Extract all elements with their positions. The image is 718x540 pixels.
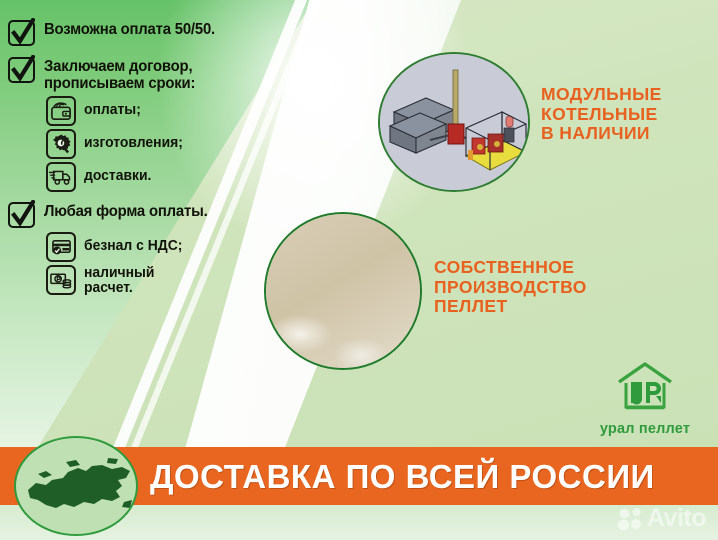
sub-item-label: изготовления; (84, 129, 183, 151)
heading-line: В НАЛИЧИИ (541, 124, 662, 144)
cash-ruble-icon (46, 265, 76, 295)
benefit-item-any-payment: Любая форма оплаты. (8, 200, 268, 228)
checkbox-checked-icon (8, 202, 35, 228)
benefit-label: Возможна оплата 50/50. (44, 18, 215, 38)
checkbox-checked-icon (8, 57, 35, 83)
logo-wordmark: урал пеллет (586, 421, 704, 437)
credit-card-check-icon (46, 232, 76, 262)
heading-line: КОТЕЛЬНЫЕ (541, 105, 662, 125)
pellets-photo-circle (264, 212, 422, 370)
sub-item-manufacturing-terms: изготовления; (46, 129, 268, 159)
heading-line: СОБСТВЕННОЕ (434, 258, 587, 278)
avito-wordmark: Avito (647, 506, 706, 531)
benefit-item-contract: Заключаем договор, прописываем сроки: (8, 55, 268, 92)
heading-line: МОДУЛЬНЫЕ (541, 85, 662, 105)
contract-sub-list: оплаты; изготовления; (46, 96, 268, 192)
house-outline-icon (615, 362, 675, 418)
russia-map-icon (14, 436, 138, 536)
boiler-photo-circle (378, 52, 530, 192)
sub-item-label-line1: наличный (84, 266, 154, 281)
gear-wrench-icon (46, 129, 76, 159)
benefit-label-line1: Заключаем договор, (44, 58, 195, 75)
benefits-list: Возможна оплата 50/50. Заключаем договор… (8, 18, 268, 299)
sub-item-cash-payment: наличный расчет. (46, 265, 268, 296)
poster-canvas: Возможна оплата 50/50. Заключаем договор… (0, 0, 718, 540)
sub-item-label: безнал с НДС; (84, 232, 182, 254)
heading-line: ПРОИЗВОДСТВО (434, 278, 587, 298)
payment-sub-list: безнал с НДС; наличный расчет. (46, 232, 268, 296)
sub-item-label: доставки. (84, 162, 151, 184)
benefit-label-line2: прописываем сроки: (44, 75, 195, 92)
avito-watermark: Avito (618, 506, 706, 531)
sub-item-label: оплаты; (84, 96, 141, 118)
heading-own-pellet-production: СОБСТВЕННОЕ ПРОИЗВОДСТВО ПЕЛЛЕТ (434, 258, 587, 317)
heading-line: ПЕЛЛЕТ (434, 297, 587, 317)
sub-item-label-line2: расчет. (84, 281, 154, 296)
sub-item-payment-terms: оплаты; (46, 96, 268, 126)
avito-dots-icon (618, 507, 644, 531)
sub-item-label: наличный расчет. (84, 265, 154, 296)
benefit-label: Любая форма оплаты. (44, 200, 208, 220)
sub-item-cashless-vat: безнал с НДС; (46, 232, 268, 262)
truck-icon (46, 162, 76, 192)
benefit-item-payment-split: Возможна оплата 50/50. (8, 18, 268, 46)
sub-item-delivery-terms: доставки. (46, 162, 268, 192)
banner-headline: ДОСТАВКА ПО ВСЕЙ РОССИИ (150, 458, 655, 496)
brand-logo: урал пеллет (586, 362, 704, 437)
checkbox-checked-icon (8, 20, 35, 46)
wallet-icon (46, 96, 76, 126)
heading-modular-boilers: МОДУЛЬНЫЕ КОТЕЛЬНЫЕ В НАЛИЧИИ (541, 85, 662, 144)
benefit-label: Заключаем договор, прописываем сроки: (44, 55, 195, 92)
